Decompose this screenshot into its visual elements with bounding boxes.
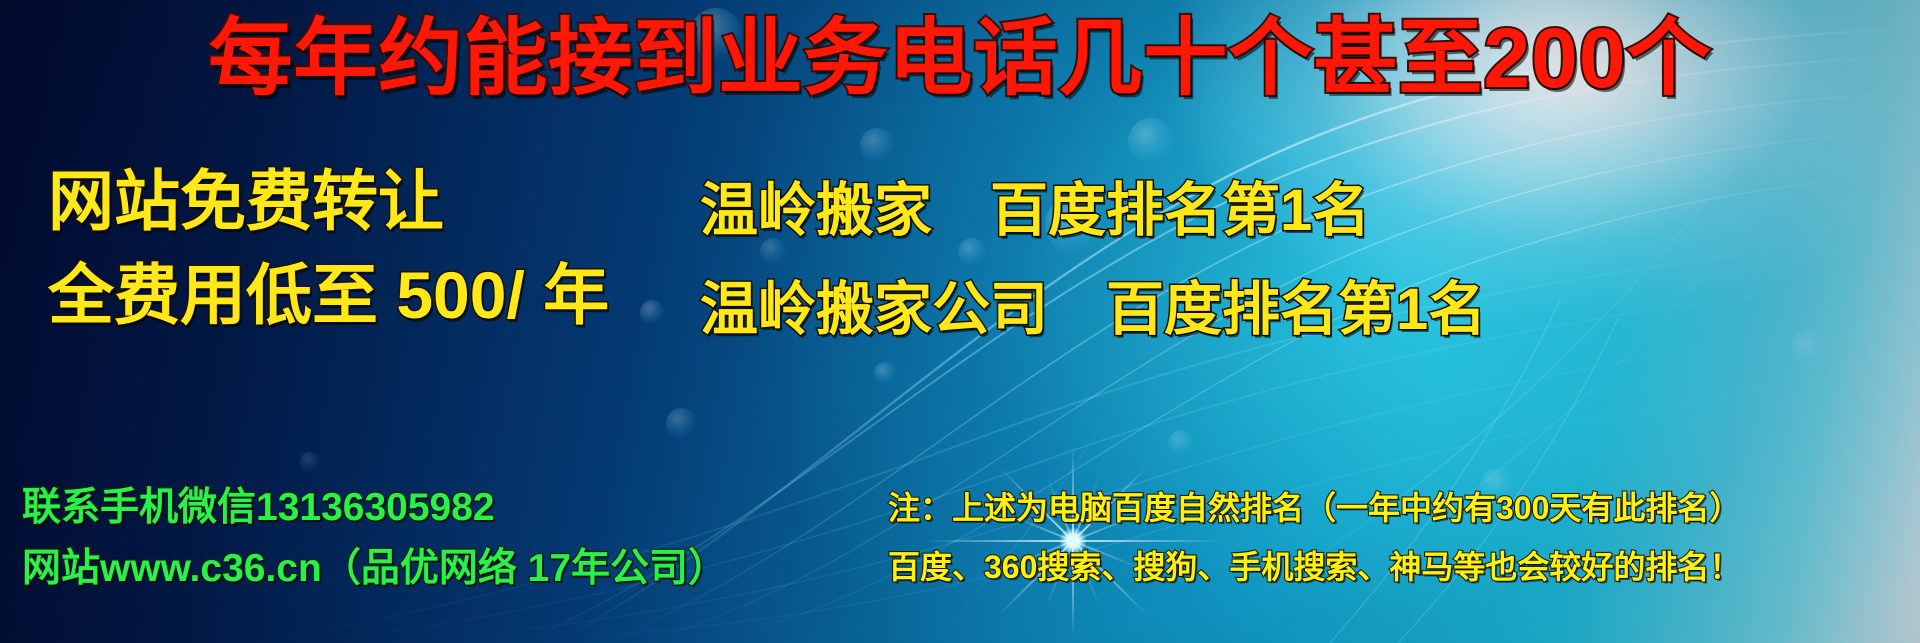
promo-banner: 每年约能接到业务电话几十个甚至200个 网站免费转让 全费用低至 500/ 年 … bbox=[0, 0, 1920, 643]
bokeh-dot bbox=[1168, 430, 1194, 456]
bokeh-dot bbox=[666, 408, 696, 438]
headline-text: 每年约能接到业务电话几十个甚至200个 bbox=[0, 16, 1920, 100]
bokeh-dot bbox=[300, 452, 320, 472]
bokeh-dot bbox=[640, 300, 664, 324]
bokeh-dot bbox=[860, 128, 894, 162]
bokeh-dot bbox=[1790, 330, 1830, 370]
flare-ray bbox=[998, 466, 1148, 616]
footnote-line-2: 百度、360搜索、搜狗、手机搜索、神马等也会较好的排名！ bbox=[888, 551, 1741, 583]
flare-ray bbox=[1072, 446, 1074, 636]
offer-line-1: 网站免费转让 bbox=[48, 168, 444, 234]
ranking-claim-line-1: 温岭搬家 百度排名第1名 bbox=[700, 182, 1370, 240]
ranking-claim-line-2: 温岭搬家公司 百度排名第1名 bbox=[700, 281, 1486, 339]
flare-ray bbox=[923, 540, 1223, 542]
bokeh-dot bbox=[1128, 118, 1174, 164]
flare-ray bbox=[998, 466, 1148, 616]
bokeh-dot bbox=[874, 362, 896, 384]
offer-line-2: 全费用低至 500/ 年 bbox=[48, 262, 609, 328]
starburst-flare bbox=[1072, 540, 1073, 541]
contact-phone-wechat: 联系手机微信13136305982 bbox=[22, 488, 495, 527]
contact-website: 网站www.c36.cn（品优网络 17年公司） bbox=[22, 549, 727, 588]
footnote-line-1: 注：上述为电脑百度自然排名（一年中约有300天有此排名） bbox=[888, 492, 1741, 524]
